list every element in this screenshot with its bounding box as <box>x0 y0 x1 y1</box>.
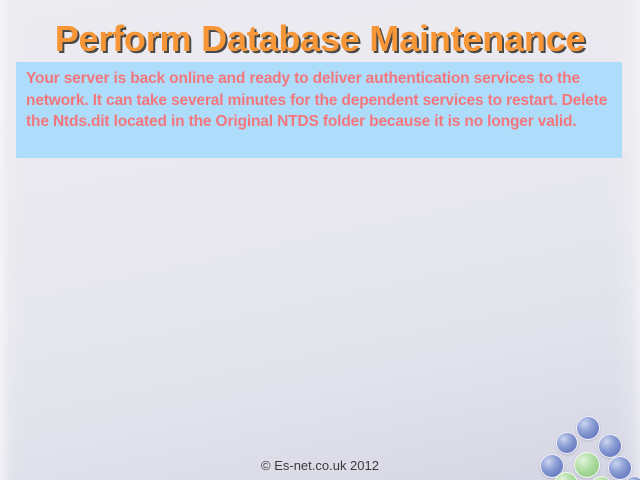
logo-sphere-green-6 <box>554 472 578 480</box>
logo-sphere-green-7 <box>590 476 612 480</box>
logo-sphere-blue-8 <box>624 476 640 480</box>
logo-sphere-blue-2 <box>598 434 622 458</box>
body-text: Your server is back online and ready to … <box>26 68 612 133</box>
slide-canvas: Perform Database Maintenance Your server… <box>0 0 640 480</box>
page-title: Perform Database Maintenance <box>0 18 640 60</box>
copyright-footer: © Es-net.co.uk 2012 <box>0 458 640 473</box>
logo-sphere-blue-0 <box>576 416 600 440</box>
body-callout-box: Your server is back online and ready to … <box>16 62 622 158</box>
logo-sphere-blue-1 <box>556 432 578 454</box>
